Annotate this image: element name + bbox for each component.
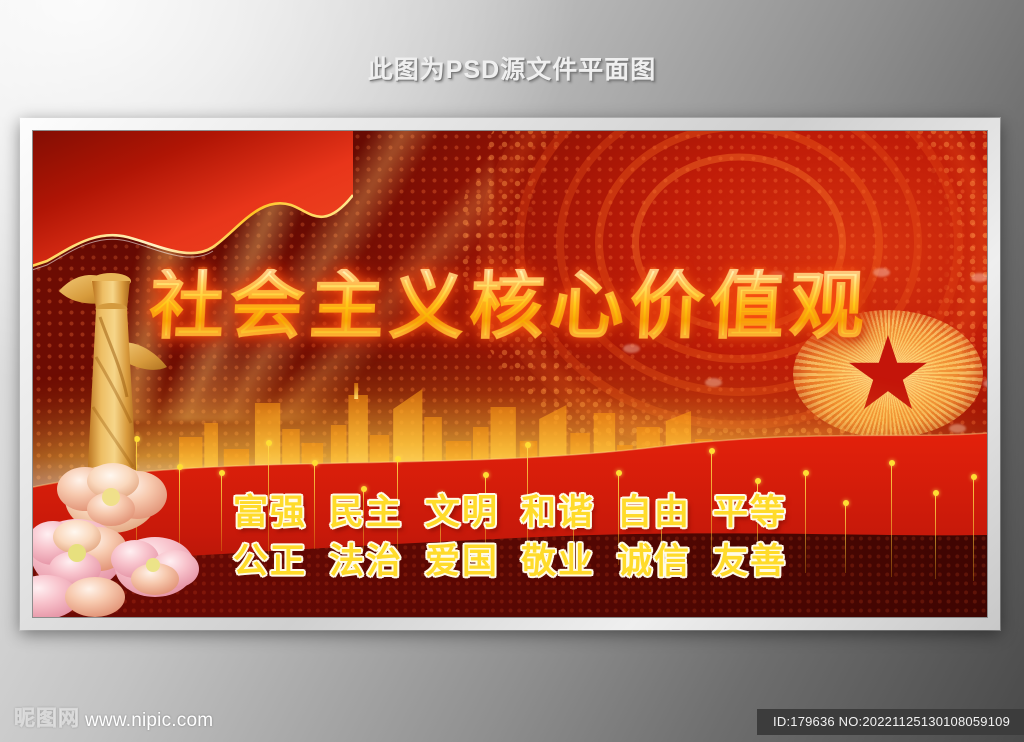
slogan-word: 公正 xyxy=(233,533,307,584)
site-logo[interactable]: 昵图网 www.nipic.com xyxy=(14,702,213,732)
footer-bar: 昵图网 www.nipic.com ID:179636 NO:202211251… xyxy=(0,690,1024,742)
screenshot-canvas: 此图为PSD源文件平面图 xyxy=(0,0,1024,742)
slogan-word: 爱国 xyxy=(425,533,499,584)
slogan-word: 友善 xyxy=(713,533,787,584)
slogan-word: 文明 xyxy=(425,484,499,535)
slogan-word: 诚信 xyxy=(617,533,691,584)
psd-source-caption: 此图为PSD源文件平面图 xyxy=(0,50,1024,86)
poster-inner-bevel: 社会主义核心价值观 富强民主文明和谐自由平等 公正法治爱国敬业诚信友善 xyxy=(32,130,988,618)
slogan-word: 自由 xyxy=(617,484,691,535)
image-id-badge: ID:179636 NO:20221125130108059109 xyxy=(757,709,1024,735)
poster-artwork: 社会主义核心价值观 富强民主文明和谐自由平等 公正法治爱国敬业诚信友善 xyxy=(33,131,987,617)
poster-frame: 社会主义核心价值观 富强民主文明和谐自由平等 公正法治爱国敬业诚信友善 xyxy=(20,118,1000,630)
site-logo-url: www.nipic.com xyxy=(85,710,213,732)
poster-main-title: 社会主义核心价值观 xyxy=(33,269,987,343)
slogan-word: 和谐 xyxy=(521,484,595,535)
slogan-word: 民主 xyxy=(329,484,403,535)
slogan-word: 平等 xyxy=(713,484,787,535)
site-logo-mark: 昵图网 xyxy=(14,702,80,732)
slogan-word: 敬业 xyxy=(521,533,595,584)
slogan-word: 富强 xyxy=(233,484,307,535)
slogan-row-1: 富强民主文明和谐自由平等 xyxy=(33,484,987,535)
slogan-row-2: 公正法治爱国敬业诚信友善 xyxy=(33,533,987,584)
slogan-word: 法治 xyxy=(329,533,403,584)
